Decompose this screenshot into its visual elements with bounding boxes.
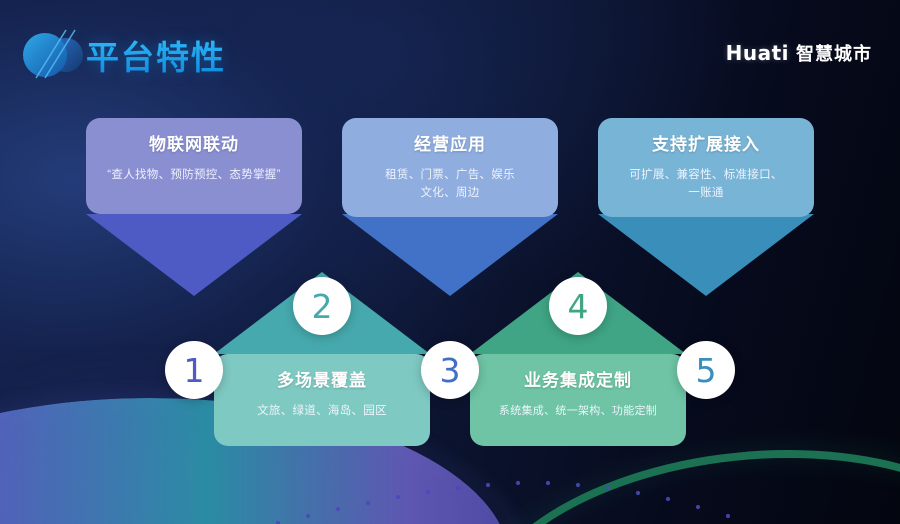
feature-card-2-number-badge: 2 [293,277,351,335]
feature-card-5-desc: 可扩展、兼容性、标准接口、一账通 [612,167,800,203]
feature-card-2-desc: 文旅、绿道、海岛、园区 [228,403,416,421]
sphere-logo-icon [18,24,90,86]
feature-card-1-desc: “查人找物、预防预控、态势掌握” [100,167,288,185]
feature-card-3-number-badge: 3 [421,341,479,399]
feature-card-3[interactable]: 经营应用 租赁、门票、广告、娱乐文化、周边 3 [342,118,558,217]
feature-card-5[interactable]: 支持扩展接入 可扩展、兼容性、标准接口、一账通 5 [598,118,814,217]
feature-card-2[interactable]: 多场景覆盖 文旅、绿道、海岛、园区 2 [214,272,430,446]
corporate-logo-cn: 智慧城市 [796,40,872,66]
feature-card-5-body: 支持扩展接入 可扩展、兼容性、标准接口、一账通 [598,118,814,217]
feature-card-4-body: 业务集成定制 系统集成、统一架构、功能定制 [470,354,686,446]
feature-card-5-title: 支持扩展接入 [612,134,800,155]
slide-canvas: 平台特性 Huati 智慧城市 物联网联动 “查人找物、预防预控、态势掌握” 1… [0,0,900,524]
feature-card-4-title: 业务集成定制 [484,370,672,391]
feature-card-3-desc: 租赁、门票、广告、娱乐文化、周边 [356,167,544,203]
feature-card-4[interactable]: 业务集成定制 系统集成、统一架构、功能定制 4 [470,272,686,446]
feature-card-1-body: 物联网联动 “查人找物、预防预控、态势掌握” [86,118,302,214]
feature-card-1-number-badge: 1 [165,341,223,399]
corporate-logo-en: Huati [726,41,789,65]
feature-card-5-number-badge: 5 [677,341,735,399]
brand-lockup: 平台特性 [18,24,226,86]
page-title: 平台特性 [86,31,226,79]
slide-header: 平台特性 Huati 智慧城市 [0,0,900,104]
feature-card-1[interactable]: 物联网联动 “查人找物、预防预控、态势掌握” 1 [86,118,302,214]
feature-card-3-body: 经营应用 租赁、门票、广告、娱乐文化、周边 [342,118,558,217]
corporate-logo: Huati 智慧城市 [726,40,872,66]
feature-card-4-number-badge: 4 [549,277,607,335]
feature-card-4-desc: 系统集成、统一架构、功能定制 [484,403,672,420]
feature-card-2-body: 多场景覆盖 文旅、绿道、海岛、园区 [214,354,430,446]
feature-card-3-title: 经营应用 [356,134,544,155]
dotted-curve-decoration [120,452,820,524]
feature-card-1-title: 物联网联动 [100,134,288,155]
feature-card-2-title: 多场景覆盖 [228,370,416,391]
